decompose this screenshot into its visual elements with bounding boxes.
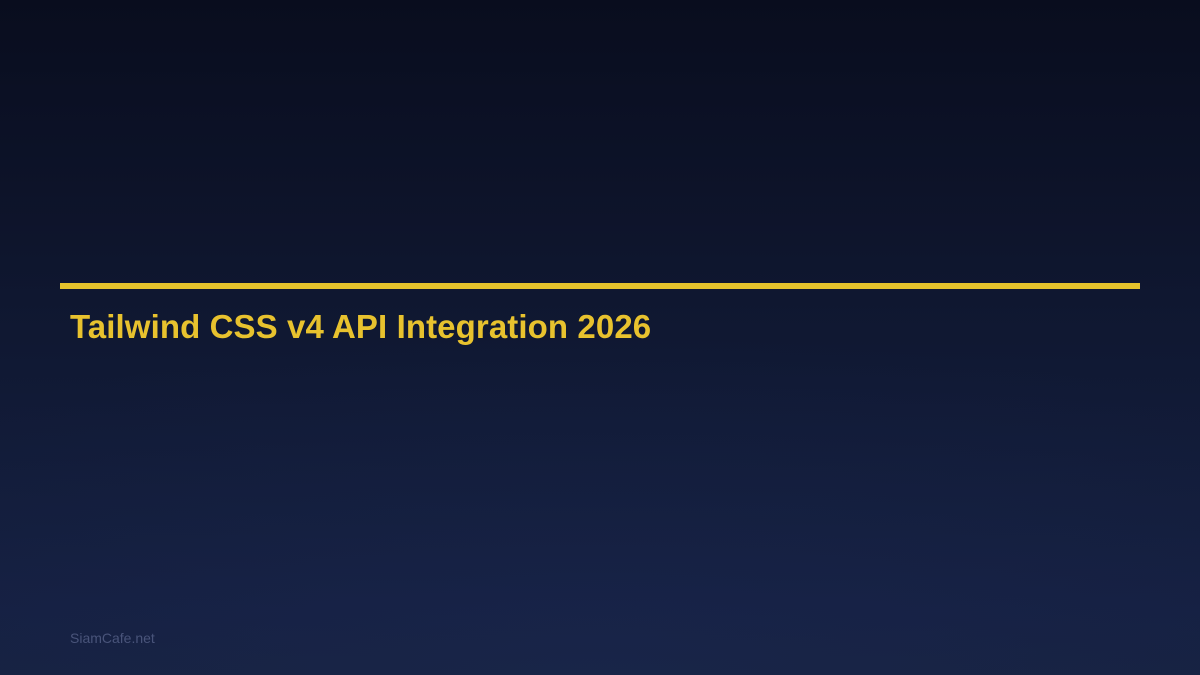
slide-content-area bbox=[60, 360, 1140, 600]
page-title: Tailwind CSS v4 API Integration 2026 bbox=[70, 307, 651, 347]
accent-rule-divider bbox=[60, 283, 1140, 289]
title-block: Tailwind CSS v4 API Integration 2026 bbox=[60, 283, 1140, 289]
slide-canvas: Tailwind CSS v4 API Integration 2026 Sia… bbox=[0, 0, 1200, 675]
slide-footer: SiamCafe.net bbox=[70, 629, 155, 647]
footer-watermark-text: SiamCafe.net bbox=[70, 629, 155, 647]
